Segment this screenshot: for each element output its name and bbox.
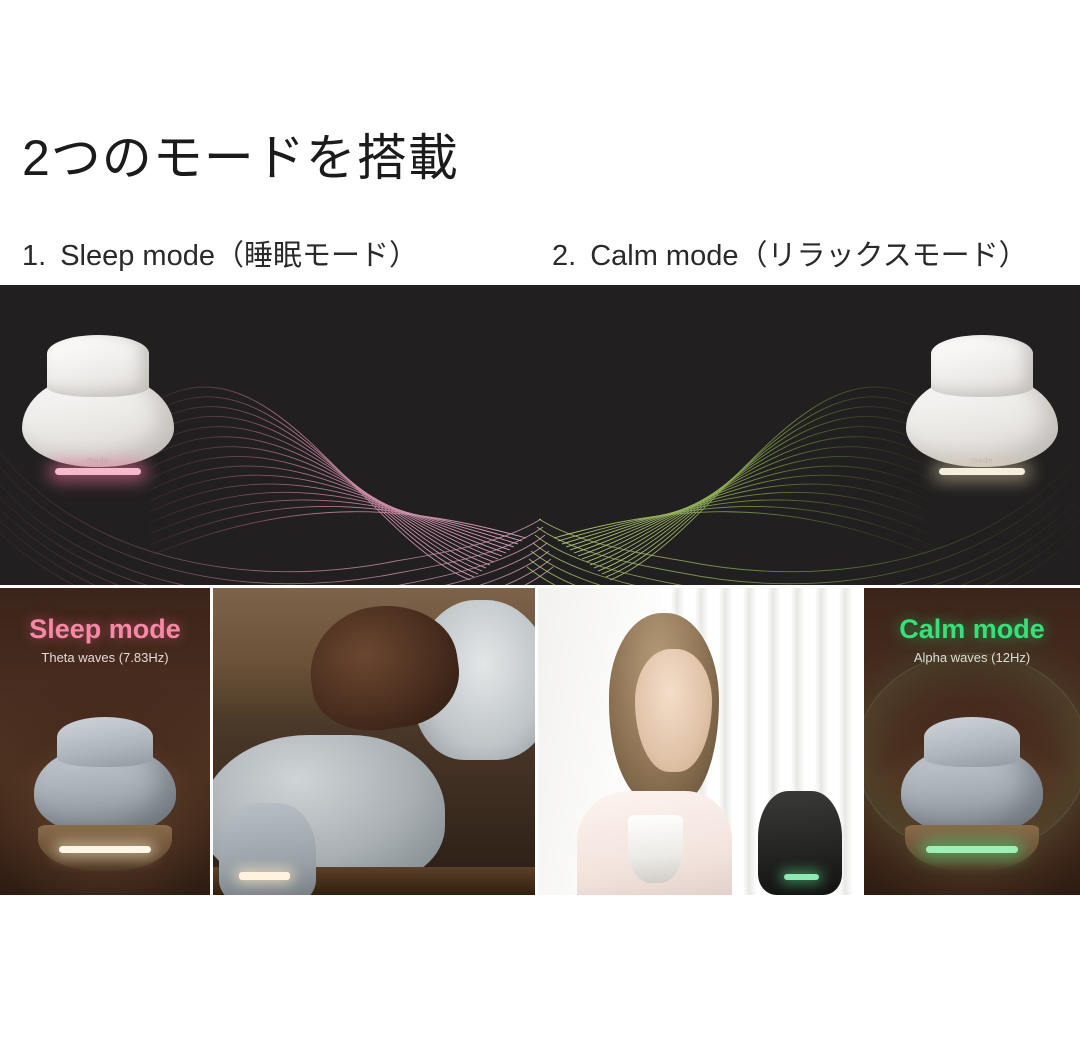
panel-subtitle: Alpha waves (12Hz) xyxy=(864,650,1080,665)
mode-number: 2. xyxy=(552,240,576,272)
photo-scene xyxy=(538,588,861,895)
woman-drinking-tea-photo xyxy=(538,588,861,895)
diffuser-device-sleep: made xyxy=(14,335,182,485)
diffuser-logo: made xyxy=(971,456,993,465)
mode-list-item-sleep: 1.Sleep mode（睡眠モード） xyxy=(22,232,418,274)
panel-subtitle: Theta waves (7.83Hz) xyxy=(0,650,210,665)
mode-list: 1.Sleep mode（睡眠モード） 2.Calm mode（リラックスモード… xyxy=(0,232,1080,278)
diffuser-light-strip xyxy=(55,468,141,475)
diffuser-in-scene xyxy=(219,803,316,895)
page-title: 2つのモードを搭載 xyxy=(22,118,459,190)
panel-title: Sleep mode xyxy=(0,614,210,645)
diffuser-top-cap xyxy=(931,335,1033,397)
diffuser-device-calm: made xyxy=(898,335,1066,485)
panel-title: Calm mode xyxy=(864,614,1080,645)
diffuser-top-cap xyxy=(47,335,149,397)
diffuser-thumbnail xyxy=(897,717,1047,877)
diffuser-light-strip xyxy=(784,874,820,880)
mode-list-item-calm: 2.Calm mode（リラックスモード） xyxy=(552,232,1028,274)
calm-label-panel: Calm mode Alpha waves (12Hz) xyxy=(864,588,1080,895)
diffuser-light-strip xyxy=(939,468,1025,475)
tea-cup xyxy=(628,815,683,883)
diffuser-light-strip xyxy=(926,846,1018,853)
photo-scene xyxy=(213,588,535,895)
diffuser-light-strip xyxy=(239,872,291,880)
heading-area: 2つのモードを搭載 1.Sleep mode（睡眠モード） 2.Calm mod… xyxy=(0,0,1080,285)
diffuser-top-cap xyxy=(57,717,153,767)
mode-label: Calm mode（リラックスモード） xyxy=(590,240,1027,272)
mode-label: Sleep mode（睡眠モード） xyxy=(60,240,418,272)
diffuser-thumbnail xyxy=(30,717,180,877)
diffuser-top-cap xyxy=(924,717,1020,767)
mode-number: 1. xyxy=(22,240,46,272)
diffuser-light-strip xyxy=(59,846,151,853)
sleep-label-panel: Sleep mode Theta waves (7.83Hz) xyxy=(0,588,210,895)
photo-strip: Sleep mode Theta waves (7.83Hz) xyxy=(0,588,1080,895)
diffuser-logo: made xyxy=(87,456,109,465)
sleeping-man-photo xyxy=(213,588,535,895)
